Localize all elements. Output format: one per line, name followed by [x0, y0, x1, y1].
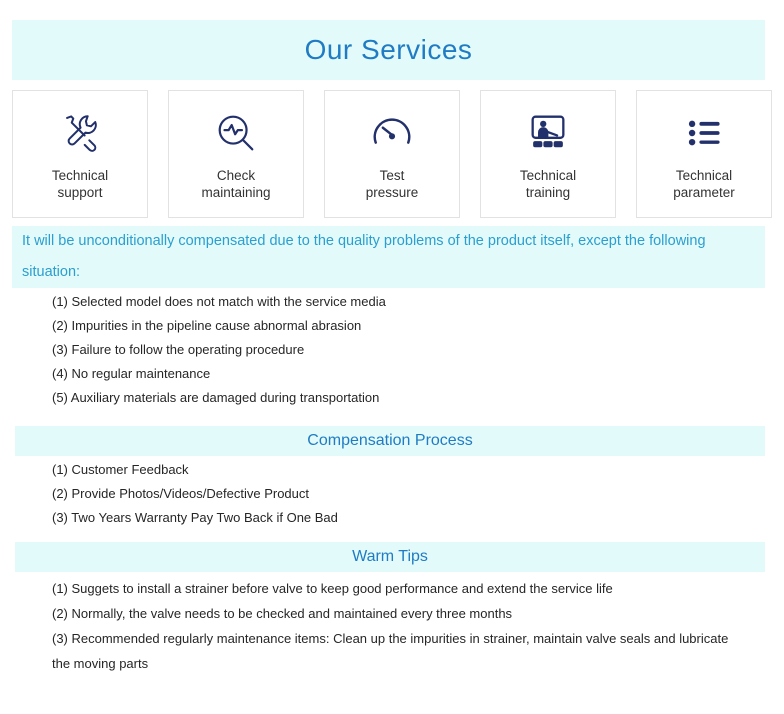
- service-card-technical-training[interactable]: Technical training: [480, 90, 616, 218]
- list-item: (2) Normally, the valve needs to be chec…: [52, 601, 742, 626]
- page-title: Our Services: [12, 20, 765, 80]
- compensation-process-title: Compensation Process: [15, 426, 765, 456]
- list-item: (3) Recommended regularly maintenance it…: [52, 626, 742, 676]
- service-card-label-line2: support: [57, 185, 102, 200]
- list-item: (1) Customer Feedback: [52, 458, 752, 482]
- services-page: Our Services Technical support: [0, 0, 784, 714]
- service-card-label: Technical support: [20, 167, 140, 201]
- wrench-screwdriver-icon: [52, 105, 108, 161]
- list-item: (5) Auxiliary materials are damaged duri…: [52, 386, 752, 410]
- service-card-label-line2: parameter: [673, 185, 735, 200]
- list-item: (2) Impurities in the pipeline cause abn…: [52, 314, 752, 338]
- service-card-label-line1: Technical: [52, 168, 108, 183]
- service-card-label: Technical parameter: [644, 167, 764, 201]
- service-card-label: Technical training: [488, 167, 608, 201]
- service-card-technical-parameter[interactable]: Technical parameter: [636, 90, 772, 218]
- magnifier-waveform-icon: [208, 105, 264, 161]
- service-card-technical-support[interactable]: Technical support: [12, 90, 148, 218]
- service-card-label-line1: Test: [380, 168, 405, 183]
- service-card-label-line1: Technical: [676, 168, 732, 183]
- exclusion-list: (1) Selected model does not match with t…: [52, 290, 752, 410]
- service-card-label-line2: training: [526, 185, 570, 200]
- training-board-icon: [520, 105, 576, 161]
- list-item: (1) Selected model does not match with t…: [52, 290, 752, 314]
- list-item: (4) No regular maintenance: [52, 362, 752, 386]
- service-card-label: Check maintaining: [176, 167, 296, 201]
- service-card-check-maintaining[interactable]: Check maintaining: [168, 90, 304, 218]
- service-card-test-pressure[interactable]: Test pressure: [324, 90, 460, 218]
- service-card-label-line1: Technical: [520, 168, 576, 183]
- list-item: (3) Two Years Warranty Pay Two Back if O…: [52, 506, 752, 530]
- gauge-icon: [364, 105, 420, 161]
- compensation-process-list: (1) Customer Feedback (2) Provide Photos…: [52, 458, 752, 530]
- warm-tips-list: (1) Suggets to install a strainer before…: [52, 576, 742, 676]
- service-cards-row: Technical support Check maintaining: [12, 90, 772, 220]
- service-card-label: Test pressure: [332, 167, 452, 201]
- list-item: (2) Provide Photos/Videos/Defective Prod…: [52, 482, 752, 506]
- warm-tips-title: Warm Tips: [15, 542, 765, 572]
- compensation-statement: It will be unconditionally compensated d…: [12, 226, 765, 288]
- list-item: (3) Failure to follow the operating proc…: [52, 338, 752, 362]
- list-item: (1) Suggets to install a strainer before…: [52, 576, 742, 601]
- service-card-label-line1: Check: [217, 168, 255, 183]
- bullet-list-icon: [676, 105, 732, 161]
- service-card-label-line2: pressure: [366, 185, 419, 200]
- service-card-label-line2: maintaining: [201, 185, 270, 200]
